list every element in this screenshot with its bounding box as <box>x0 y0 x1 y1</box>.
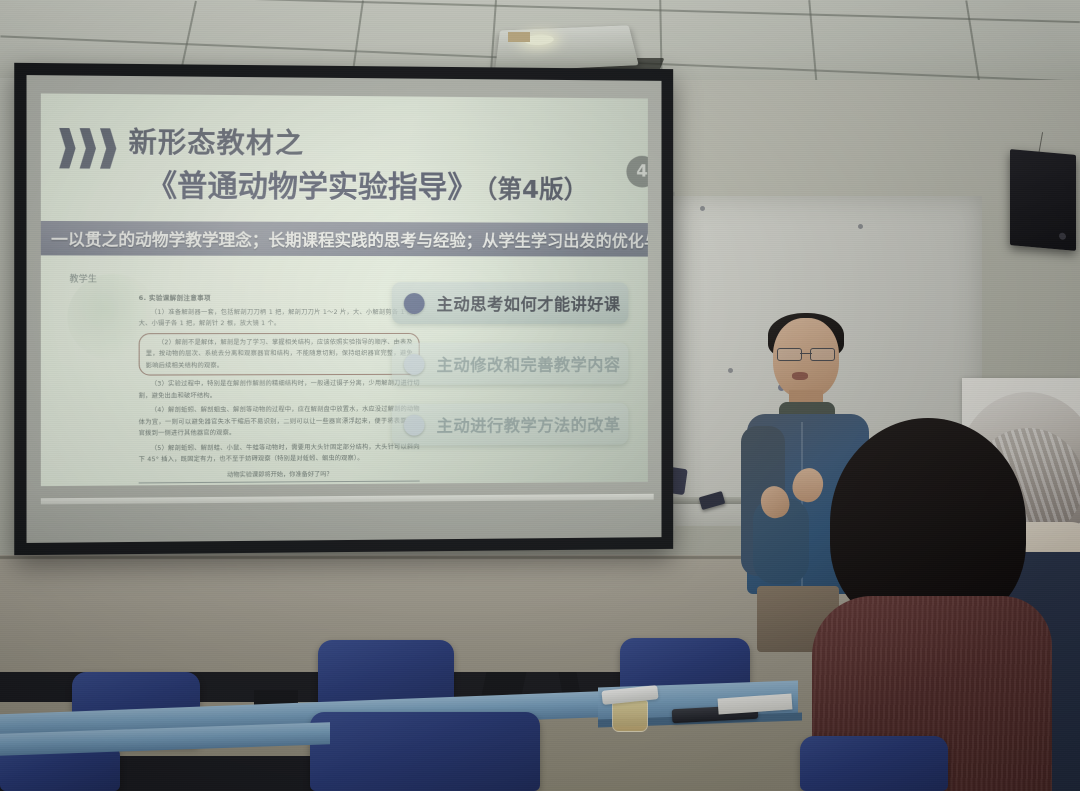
doc-paragraph: （1）准备解剖器一套，包括解剖刀刀柄 1 把，解剖刀刀片 1～2 片，大、小解剖… <box>139 307 420 330</box>
wall-speaker <box>1010 149 1076 251</box>
bullet-dot-icon <box>404 353 425 374</box>
doc-heading: 6. 实验课解剖注意事项 <box>139 292 420 302</box>
slide-bullet-item[interactable]: 主动修改和完善教学内容 <box>392 343 629 385</box>
doc-paragraph: （4）解剖蚯蚓、解剖蛔虫、解剖等动物的过程中，应在解剖盘中放置水，水应没过解剖的… <box>139 404 420 440</box>
projection-screen-frame: 新形态教材之 《普通动物学实验指导》（第4版） 4 一以贯之的动物学教学理念；长… <box>14 63 673 555</box>
doc-paragraph: （5）解剖蚯蚓、解剖蛙、小鼠、牛蛙等动物时，需要用大头针固定部分结构，大头针可以… <box>139 441 420 466</box>
presentation-slide: 新形态教材之 《普通动物学实验指导》（第4版） 4 一以贯之的动物学教学理念；长… <box>41 93 648 486</box>
bullet-label: 主动思考如何才能讲好课 <box>437 291 621 315</box>
doc-divider <box>139 480 420 483</box>
slide-edition: （第4版） <box>485 175 588 204</box>
slide-bullet-item[interactable]: 主动思考如何才能讲好课 <box>392 282 629 324</box>
bullet-label: 主动进行教学方法的改革 <box>437 412 621 437</box>
eyeglasses-icon <box>777 348 835 359</box>
chair[interactable] <box>800 736 948 791</box>
slide-bullet-item[interactable]: 主动进行教学方法的改革 <box>392 403 629 446</box>
projector-mount-tab <box>508 32 530 42</box>
slide-body: 教学生 6. 实验课解剖注意事项 （1）准备解剖器一套，包括解剖刀刀柄 1 把，… <box>41 257 648 486</box>
projection-screen-surface: 新形态教材之 《普通动物学实验指导》（第4版） 4 一以贯之的动物学教学理念；长… <box>27 75 662 543</box>
slide-book-title: 《普通动物学实验指导》 <box>147 169 477 206</box>
bullet-dot-icon <box>404 293 425 314</box>
slide-title-line1: 新形态教材之 <box>128 120 304 161</box>
document-excerpt: 6. 实验课解剖注意事项 （1）准备解剖器一套，包括解剖刀刀柄 1 把，解剖刀刀… <box>139 292 420 483</box>
chevron-right-icon <box>59 128 122 169</box>
slide-subtitle-band: 一以贯之的动物学教学理念；长期课程实践的思考与经验；从学生学习出发的优化与更新 <box>41 221 648 257</box>
slide-title-line2: 《普通动物学实验指导》（第4版） <box>147 161 588 207</box>
doc-paragraph: （2）解剖不是解体，解剖是为了学习、掌握相关结构，应该依照实验指导的顺序、由表及… <box>146 337 413 372</box>
bullet-dot-icon <box>404 414 425 435</box>
doc-footer-text: 动物实验课即将开始，你准备好了吗？ <box>139 468 420 479</box>
slide-page-badge: 4 <box>626 156 647 188</box>
lecture-hall-photo: 多样性 部重点 新形态教材之 《普通动物学实验指导》（第4版） 4 <box>0 0 1080 791</box>
doc-paragraph: （3）实验过程中，特别是在解剖作解剖的精细结构时，一般通过镊子分离，少用解剖刀进… <box>139 378 420 402</box>
doc-highlight-box: （2）解剖不是解体，解剖是为了学习、掌握相关结构，应该依照实验指导的顺序、由表及… <box>139 333 420 376</box>
slide-subtitle-text: 一以贯之的动物学教学理念；长期课程实践的思考与经验；从学生学习出发的优化与更新 <box>41 226 648 252</box>
bullet-label: 主动修改和完善教学内容 <box>437 352 621 376</box>
chair[interactable] <box>310 712 540 791</box>
screen-bottom-band <box>41 494 654 505</box>
presenter-mouth <box>792 372 808 380</box>
doc-side-label: 教学生 <box>69 272 97 285</box>
slide-header: 新形态教材之 《普通动物学实验指导》（第4版） 4 <box>41 93 648 225</box>
slide-bullet-list: 主动思考如何才能讲好课 主动修改和完善教学内容 主动进行教学方法的改革 <box>392 282 629 465</box>
snack-cup[interactable] <box>612 700 648 732</box>
speaker-led-icon <box>1059 232 1066 240</box>
